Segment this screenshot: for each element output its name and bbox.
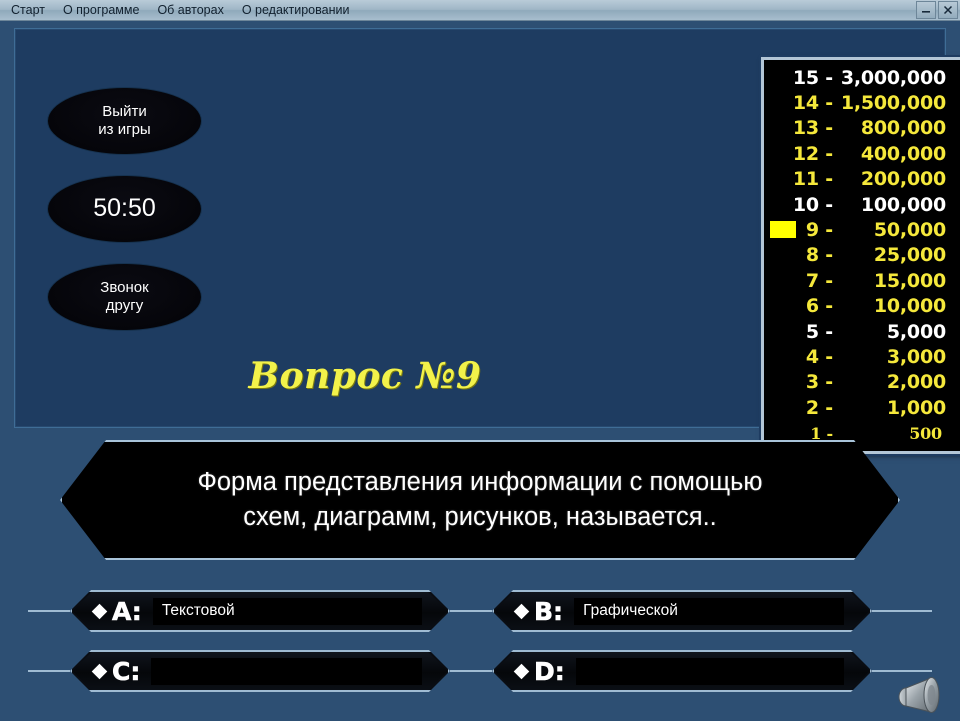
answer-d-inner: D: bbox=[494, 652, 870, 690]
ladder-row-10: 10 -100,000 bbox=[764, 192, 960, 217]
ladder-row-14: 14 -1,500,000 bbox=[764, 90, 960, 115]
connector-line-cd bbox=[450, 670, 492, 672]
answer-a-inner: A: Текстовой bbox=[72, 592, 448, 630]
lifeline-quit-line2: из игры bbox=[98, 121, 150, 139]
answer-option-a[interactable]: A: Текстовой bbox=[70, 590, 450, 632]
ladder-row-15: 15 -3,000,000 bbox=[764, 65, 960, 90]
ladder-row-8: 8 -25,000 bbox=[764, 243, 960, 268]
ladder-level-7: 7 - bbox=[764, 270, 838, 292]
connector-line-left-bottom bbox=[28, 670, 70, 672]
answer-c-field bbox=[151, 658, 422, 685]
diamond-icon bbox=[92, 663, 108, 679]
answer-a-letter: A: bbox=[112, 597, 142, 626]
answer-option-c[interactable]: C: bbox=[70, 650, 450, 692]
lifeline-quit-line1: Выйти bbox=[102, 103, 146, 121]
ladder-amount-9: 50,000 bbox=[838, 219, 960, 241]
window-controls bbox=[916, 1, 958, 19]
lifeline-call-line1: Звонок bbox=[100, 279, 148, 297]
ladder-row-4: 4 -3,000 bbox=[764, 344, 960, 369]
question-text: Форма представления информации с помощью… bbox=[130, 465, 830, 535]
lifeline-fifty-label: 50:50 bbox=[93, 194, 156, 224]
current-level-marker bbox=[770, 221, 796, 238]
question-number-title: Вопрос №9 bbox=[15, 355, 715, 397]
menu-item-about-authors[interactable]: Об авторах bbox=[148, 0, 232, 20]
ladder-amount-13: 800,000 bbox=[838, 117, 960, 139]
diamond-icon bbox=[514, 603, 530, 619]
ladder-amount-5: 5,000 bbox=[838, 321, 960, 343]
ladder-row-12: 12 -400,000 bbox=[764, 141, 960, 166]
menu-bar: Старт О программе Об авторах О редактиро… bbox=[0, 0, 960, 21]
ladder-level-10: 10 - bbox=[764, 194, 838, 216]
menu-item-about-program[interactable]: О программе bbox=[54, 0, 148, 20]
ladder-level-11: 11 - bbox=[764, 168, 838, 190]
minimize-icon bbox=[920, 4, 932, 16]
ladder-amount-8: 25,000 bbox=[838, 244, 960, 266]
ladder-amount-3: 2,000 bbox=[838, 371, 960, 393]
question-text-line2: схем, диаграмм, рисунков, называется.. bbox=[130, 500, 830, 535]
connector-line-left-top bbox=[28, 610, 70, 612]
ladder-row-13: 13 -800,000 bbox=[764, 116, 960, 141]
answer-b-inner: B: Графической bbox=[494, 592, 870, 630]
diamond-icon bbox=[92, 603, 108, 619]
ladder-row-6: 6 -10,000 bbox=[764, 294, 960, 319]
money-ladder: 15 -3,000,00014 -1,500,00013 -800,00012 … bbox=[761, 57, 960, 454]
answer-b-letter: B: bbox=[534, 597, 563, 626]
question-panel-frame: Форма представления информации с помощью… bbox=[60, 440, 900, 560]
lifeline-phone-a-friend[interactable]: Звонок другу bbox=[47, 263, 202, 331]
menu-item-start[interactable]: Старт bbox=[0, 0, 54, 20]
ladder-amount-6: 10,000 bbox=[838, 295, 960, 317]
ladder-row-2: 2 -1,000 bbox=[764, 395, 960, 420]
answer-c-letter: C: bbox=[112, 657, 140, 686]
ladder-amount-4: 3,000 bbox=[838, 346, 960, 368]
answer-option-d[interactable]: D: bbox=[492, 650, 872, 692]
lifeline-fifty-fifty[interactable]: 50:50 bbox=[47, 175, 202, 243]
ladder-row-3: 3 -2,000 bbox=[764, 370, 960, 395]
answer-c-inner: C: bbox=[72, 652, 448, 690]
question-text-line1: Форма представления информации с помощью bbox=[130, 465, 830, 500]
menu-item-about-editing[interactable]: О редактировании bbox=[233, 0, 359, 20]
minimize-button[interactable] bbox=[916, 1, 936, 19]
sound-button[interactable] bbox=[893, 672, 945, 716]
answer-d-letter: D: bbox=[534, 657, 565, 686]
question-panel-inner: Форма представления информации с помощью… bbox=[65, 445, 895, 555]
question-panel: Форма представления информации с помощью… bbox=[60, 440, 900, 560]
diamond-icon bbox=[514, 663, 530, 679]
ladder-level-15: 15 - bbox=[764, 67, 838, 89]
close-button[interactable] bbox=[938, 1, 958, 19]
connector-line-right-top bbox=[872, 610, 932, 612]
ladder-amount-14: 1,500,000 bbox=[838, 92, 960, 114]
speaker-icon bbox=[893, 672, 945, 716]
answer-option-b[interactable]: B: Графической bbox=[492, 590, 872, 632]
close-icon bbox=[942, 4, 954, 16]
ladder-level-6: 6 - bbox=[764, 295, 838, 317]
ladder-row-5: 5 -5,000 bbox=[764, 319, 960, 344]
ladder-row-11: 11 -200,000 bbox=[764, 167, 960, 192]
lifeline-call-line2: другу bbox=[106, 297, 143, 315]
game-stage-panel: Выйти из игры 50:50 Звонок другу Вопрос … bbox=[14, 28, 946, 428]
ladder-amount-7: 15,000 bbox=[838, 270, 960, 292]
ladder-level-4: 4 - bbox=[764, 346, 838, 368]
ladder-level-14: 14 - bbox=[764, 92, 838, 114]
answer-d-field bbox=[576, 658, 844, 685]
ladder-level-12: 12 - bbox=[764, 143, 838, 165]
answer-b-text: Графической bbox=[574, 602, 678, 620]
ladder-level-5: 5 - bbox=[764, 321, 838, 343]
answer-a-field: Текстовой bbox=[153, 598, 422, 625]
connector-line-ab bbox=[450, 610, 492, 612]
lifeline-quit-game[interactable]: Выйти из игры bbox=[47, 87, 202, 155]
ladder-amount-12: 400,000 bbox=[838, 143, 960, 165]
ladder-amount-10: 100,000 bbox=[838, 194, 960, 216]
ladder-level-8: 8 - bbox=[764, 244, 838, 266]
ladder-row-7: 7 -15,000 bbox=[764, 268, 960, 293]
ladder-level-2: 2 - bbox=[764, 397, 838, 419]
ladder-amount-15: 3,000,000 bbox=[838, 67, 960, 89]
answer-b-field: Графической bbox=[574, 598, 844, 625]
ladder-level-3: 3 - bbox=[764, 371, 838, 393]
ladder-amount-2: 1,000 bbox=[838, 397, 960, 419]
ladder-level-13: 13 - bbox=[764, 117, 838, 139]
ladder-row-9: 9 -50,000 bbox=[764, 217, 960, 242]
answer-a-text: Текстовой bbox=[153, 602, 235, 620]
ladder-amount-11: 200,000 bbox=[838, 168, 960, 190]
